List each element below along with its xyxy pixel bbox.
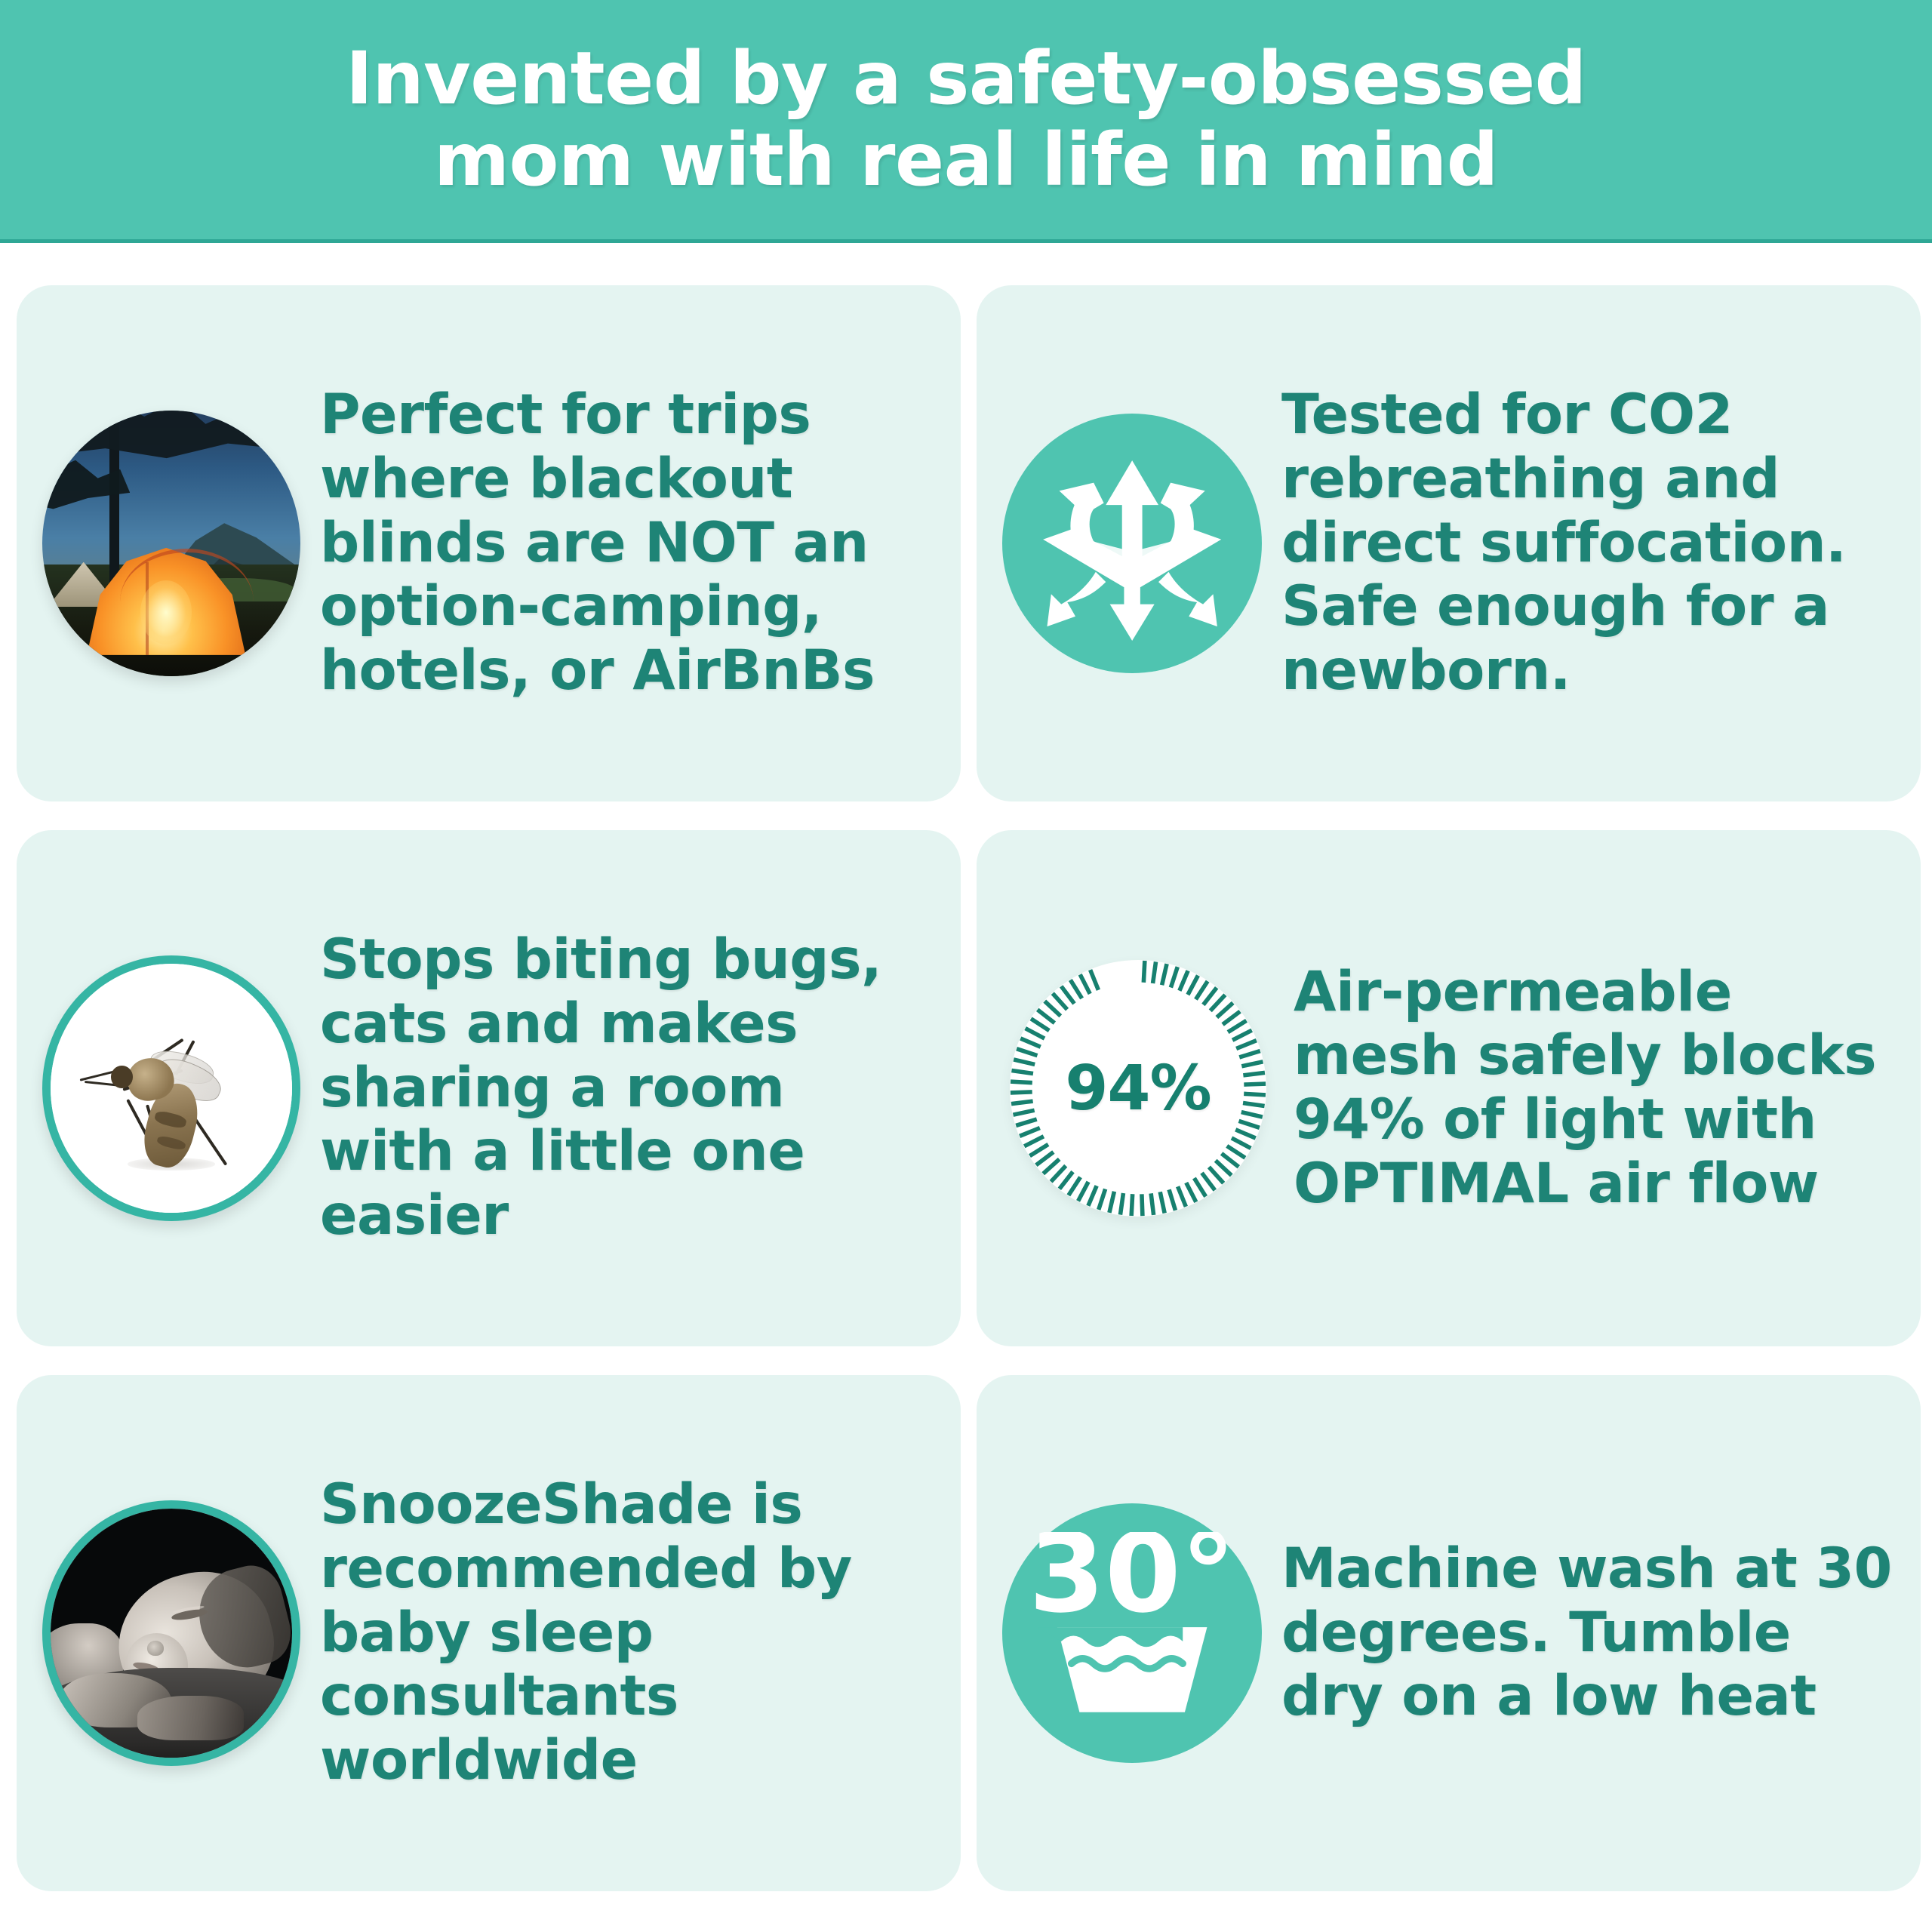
camping-tent-photo [42,411,300,676]
feature-text-trips: Perfect for trips where blackout blinds … [300,383,935,703]
card-media-light-blocking: 94% [1002,952,1274,1224]
feature-card-grid: Perfect for trips where blackout blinds … [17,285,1921,1891]
feature-card-co2: Tested for CO2 rebreathing and direct su… [977,285,1921,801]
feature-card-wash-care: 30° Machine wash at 30 degrees. Tumble d… [977,1375,1921,1891]
wash-30-degrees-icon: 30° [1002,1503,1262,1763]
card-media-co2 [1002,414,1262,673]
feature-text-light-blocking: Air-permeable mesh safely blocks 94% of … [1274,961,1895,1217]
infographic-page: Invented by a safety-obsessed mom with r… [0,0,1932,1932]
card-media-wash-care: 30° [1002,1503,1262,1763]
mosquito-photo [42,955,300,1221]
feature-card-trips: Perfect for trips where blackout blinds … [17,285,961,801]
card-media-trips [42,411,300,676]
feature-text-recommended: SnoozeShade is recommended by baby sleep… [300,1473,935,1792]
feature-card-recommended: SnoozeShade is recommended by baby sleep… [17,1375,961,1891]
card-media-recommended [42,1500,300,1766]
sleeping-baby-photo [42,1500,300,1766]
page-title: Invented by a safety-obsessed mom with r… [268,38,1664,201]
wash-temperature-label: 30° [1031,1532,1233,1638]
feature-text-bugs: Stops biting bugs, cats and makes sharin… [300,928,935,1247]
feature-text-co2: Tested for CO2 rebreathing and direct su… [1262,383,1895,703]
feature-card-light-blocking: 94% Air-permeable mesh safely blocks 94%… [977,830,1921,1346]
feature-text-wash-care: Machine wash at 30 degrees. Tumble dry o… [1262,1537,1895,1729]
progress-value-label: 94% [1065,1053,1211,1124]
card-media-bugs [42,955,300,1221]
airflow-arrows-icon [1002,414,1262,673]
feature-card-bugs: Stops biting bugs, cats and makes sharin… [17,830,961,1346]
header-banner: Invented by a safety-obsessed mom with r… [0,0,1932,243]
light-blocking-progress-ring: 94% [1002,952,1274,1224]
